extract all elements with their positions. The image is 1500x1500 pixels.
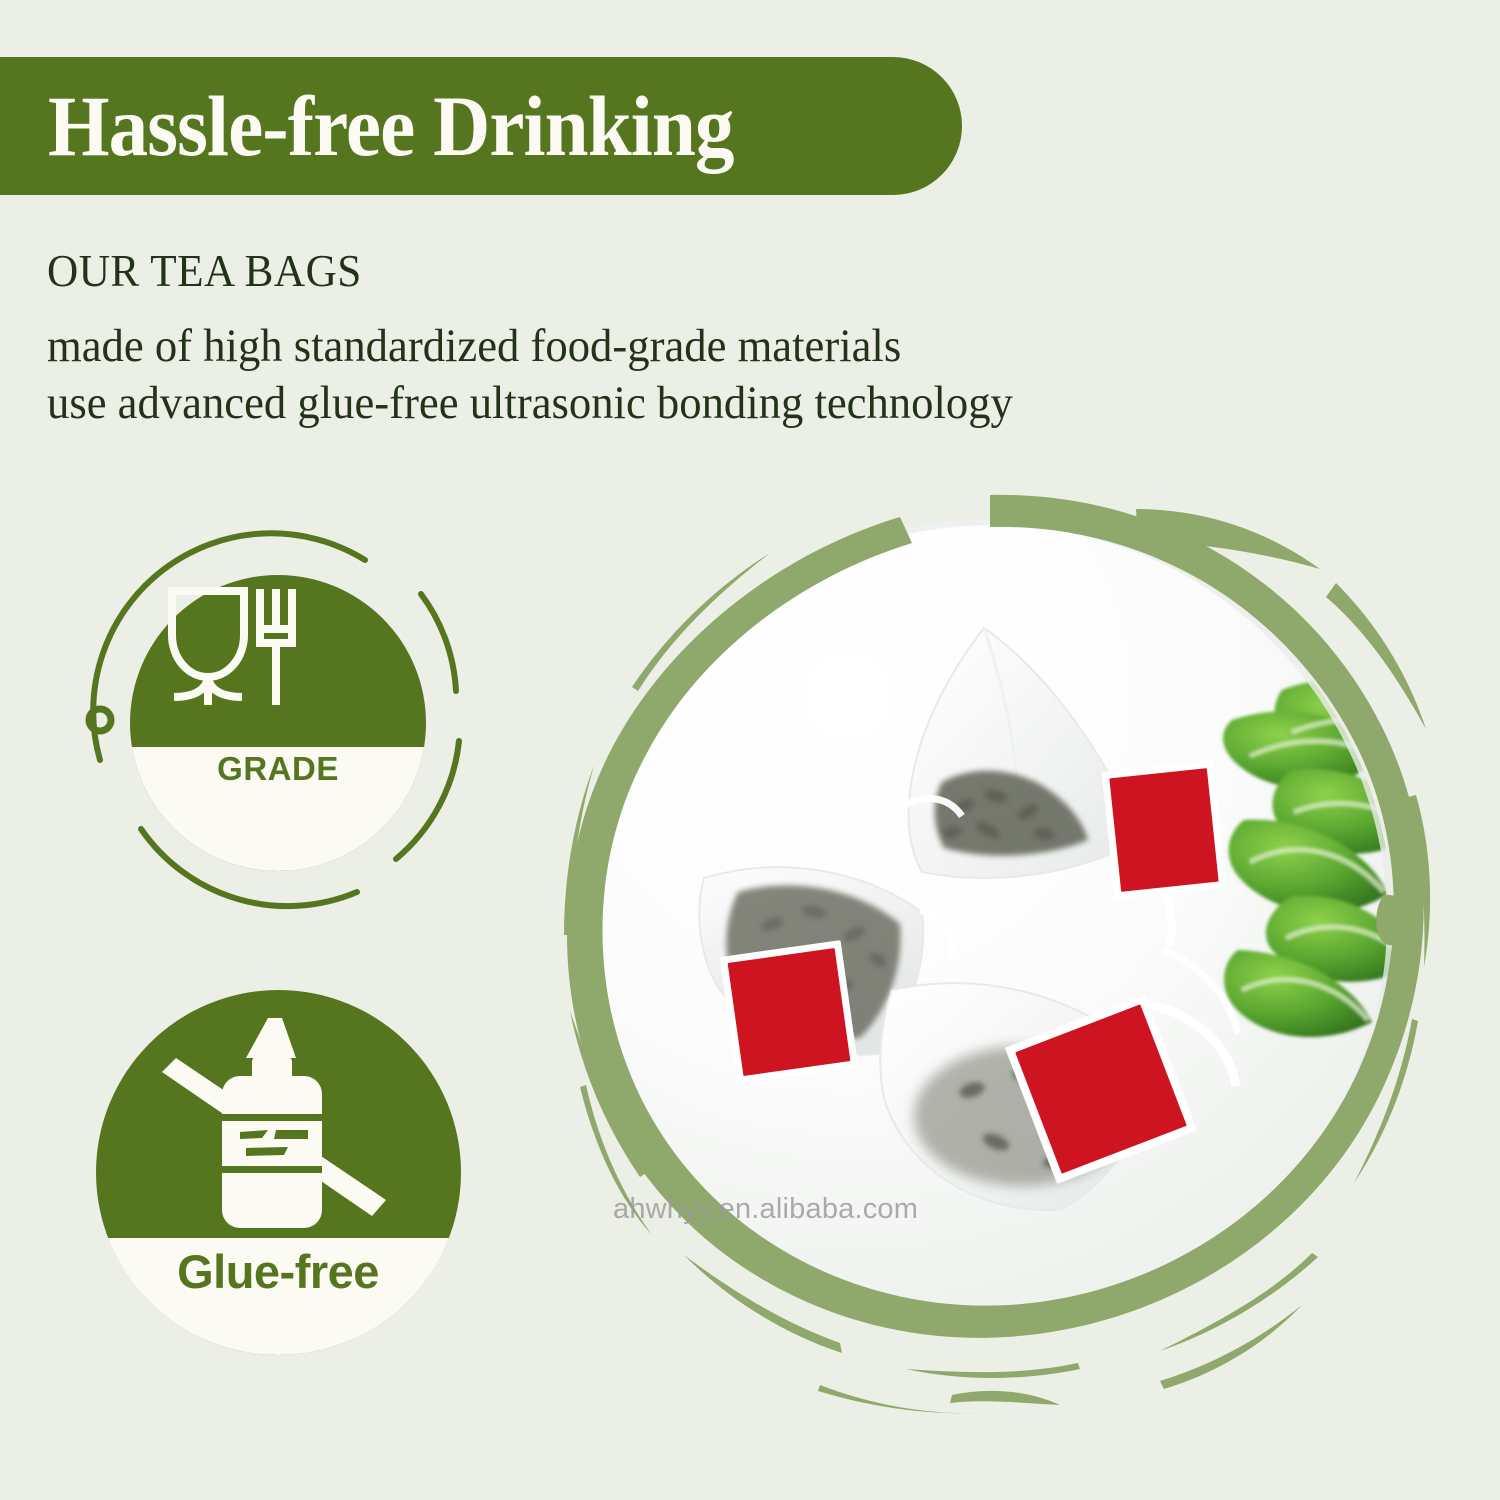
brush-stroke-frame [520,465,1470,1415]
intro-line-2: use advanced glue-free ultrasonic bondin… [47,375,1235,432]
promo-page: Hassle-free Drinking OUR TEA BAGS made o… [0,0,1500,1500]
badge-label-food-grade: FOOD GRADE [78,711,478,789]
wine-glass-and-fork-icon [156,583,304,711]
badge-label-line-1: FOOD [78,711,478,750]
intro-line-1: made of high standardized food-grade mat… [47,318,1235,375]
watermark-text: ahwhyy.en.alibaba.com [613,1193,918,1226]
crossed-out-glue-bottle-icon [136,1014,406,1254]
badge-label-glue-free: Glue-free [88,1247,468,1296]
badge-label-line-2: GRADE [78,750,478,789]
header-banner: Hassle-free Drinking [0,57,962,195]
intro-text-block: OUR TEA BAGS made of high standardized f… [47,248,1297,433]
badge-glue-free: Glue-free [88,982,468,1382]
intro-heading: OUR TEA BAGS [47,248,1222,294]
product-photo-area: ahwhyy.en.alibaba.com [520,465,1470,1415]
badge-food-grade: FOOD GRADE [78,528,478,928]
page-title: Hassle-free Drinking [48,83,734,169]
badge-label-line-1: Glue-free [88,1247,468,1296]
